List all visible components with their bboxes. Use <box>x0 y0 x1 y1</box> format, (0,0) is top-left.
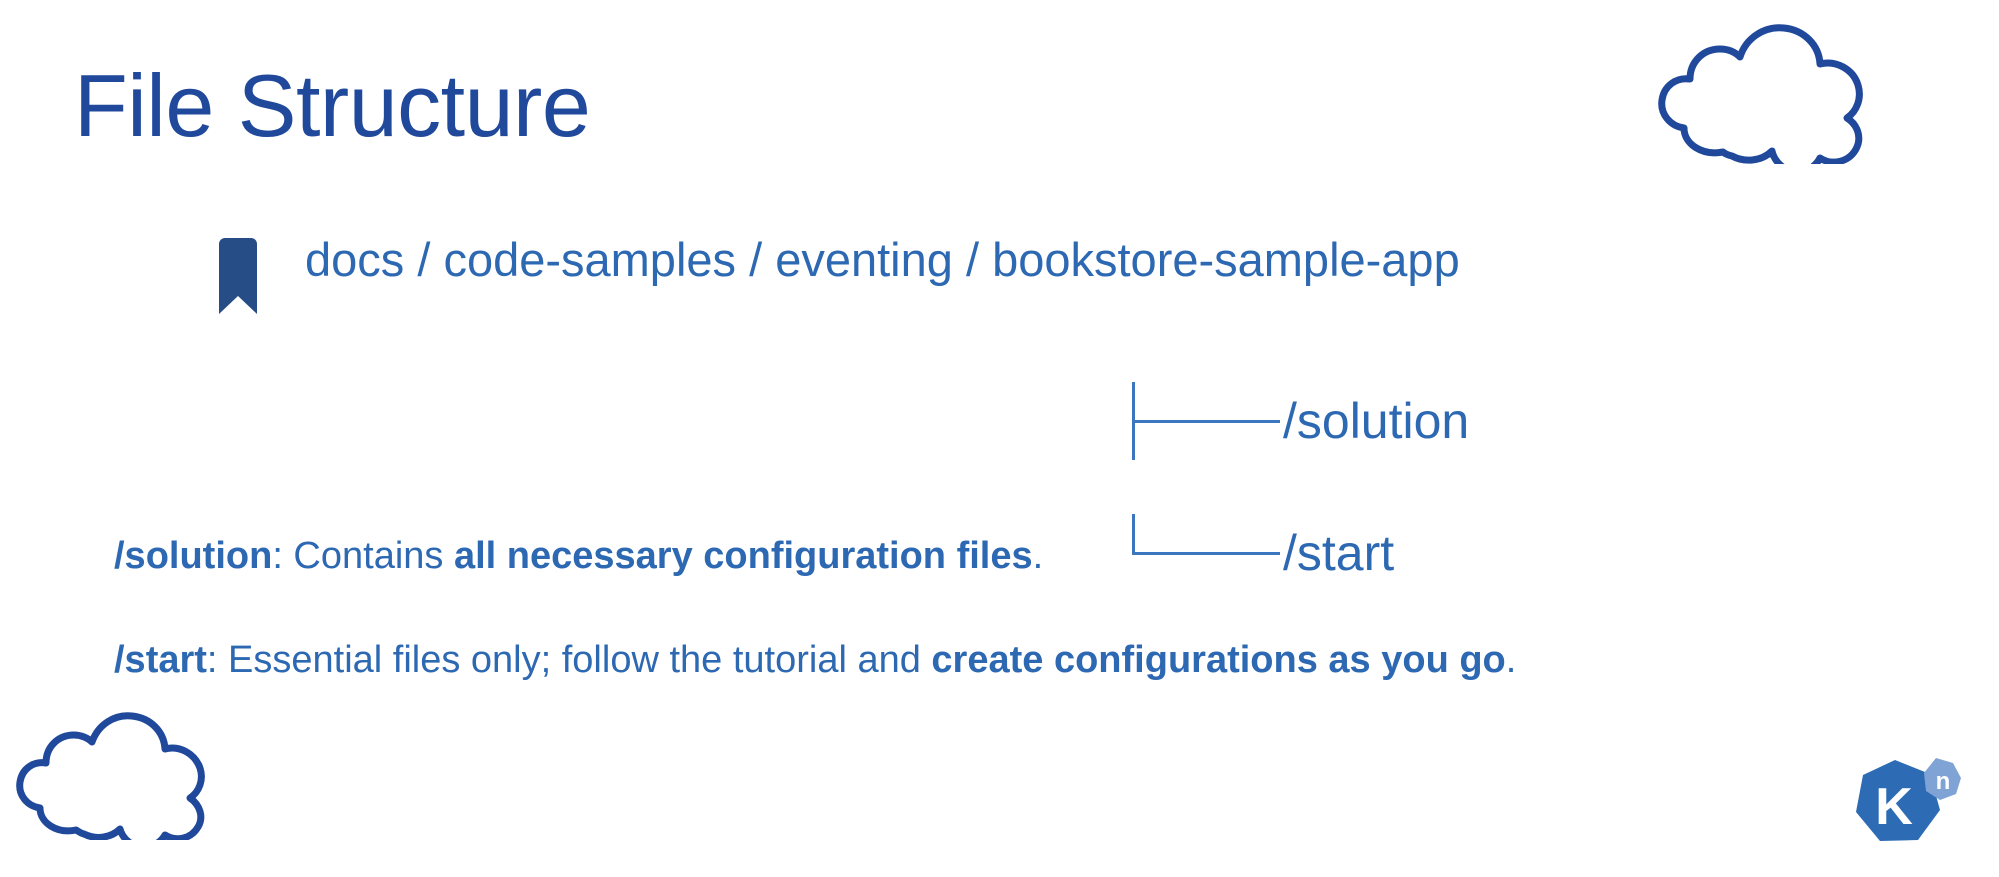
description-solution: /solution: Contains all necessary config… <box>114 532 1043 581</box>
description-start-end: . <box>1506 639 1517 681</box>
cloud-icon-bottom-left <box>10 712 220 840</box>
description-start-middle: : Essential files only; follow the tutor… <box>207 639 932 681</box>
knative-logo-letter-k: K <box>1875 778 1913 836</box>
description-solution-emphasis: all necessary configuration files <box>454 535 1033 577</box>
tree-item-label-start: /start <box>1283 528 1394 578</box>
term-start: /start <box>114 639 207 681</box>
breadcrumb-row: docs / code-samples / eventing / booksto… <box>215 232 1460 314</box>
slide-canvas: File Structure docs / code-samples / eve… <box>0 0 1999 877</box>
tree-item-label-solution: /solution <box>1283 396 1469 446</box>
bookmark-icon <box>215 238 261 314</box>
tree-row: /start <box>1130 514 1469 592</box>
file-tree: /solution /start <box>1130 328 1469 646</box>
description-solution-end: . <box>1033 535 1044 577</box>
term-solution: /solution <box>114 535 272 577</box>
description-start-emphasis: create configurations as you go <box>931 639 1505 681</box>
description-solution-middle: : Contains <box>272 535 454 577</box>
page-title: File Structure <box>74 60 590 152</box>
tree-branch-elbow-icon <box>1130 514 1285 592</box>
knative-logo-letter-n: n <box>1936 768 1951 795</box>
cloud-icon-top-right <box>1650 24 1880 164</box>
tree-branch-tee-icon <box>1130 382 1285 460</box>
breadcrumb-path: docs / code-samples / eventing / booksto… <box>305 232 1460 288</box>
tree-row: /solution <box>1130 382 1469 460</box>
description-start: /start: Essential files only; follow the… <box>114 636 1516 685</box>
knative-logo: K n <box>1848 752 1968 862</box>
